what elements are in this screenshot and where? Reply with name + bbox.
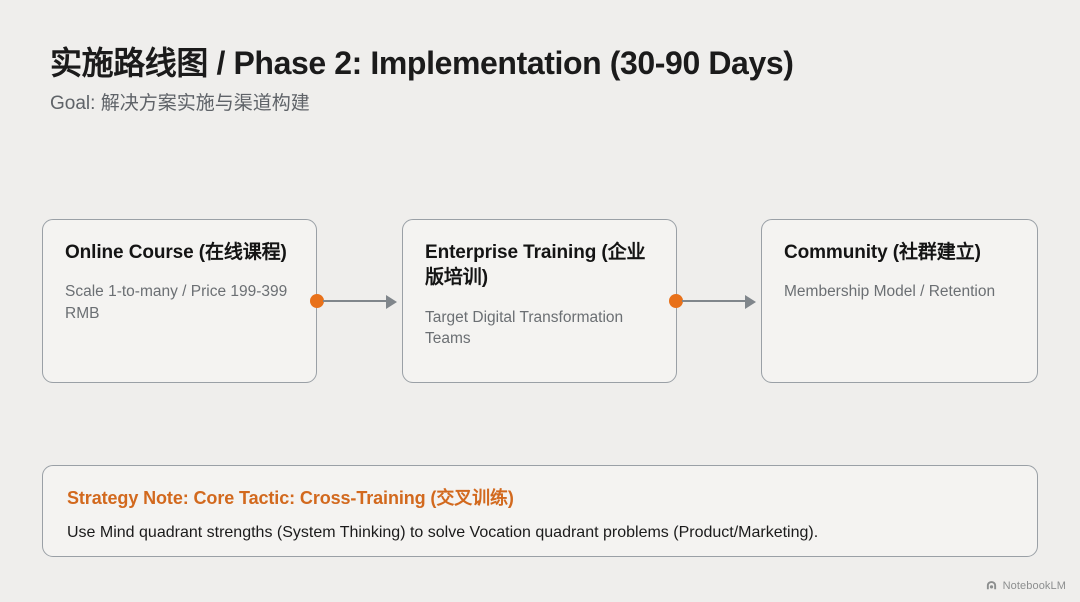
connector-line: [682, 300, 752, 302]
flow-card-title: Enterprise Training (企业版培训): [425, 240, 654, 291]
flow-card-description: Scale 1-to-many / Price 199-399 RMB: [65, 281, 294, 324]
slide-canvas: 实施路线图 / Phase 2: Implementation (30-90 D…: [0, 0, 1080, 602]
strategy-note-title: Strategy Note: Core Tactic: Cross-Traini…: [67, 488, 1013, 510]
flow-card-title: Community (社群建立): [784, 240, 1015, 265]
page-title: 实施路线图 / Phase 2: Implementation (30-90 D…: [50, 44, 1040, 82]
arrow-right-icon: [386, 295, 397, 309]
process-flow: Online Course (在线课程) Scale 1-to-many / P…: [42, 219, 1038, 383]
flow-connector-2: [669, 292, 761, 310]
connector-line: [323, 300, 393, 302]
flow-card-enterprise-training: Enterprise Training (企业版培训) Target Digit…: [402, 219, 677, 383]
strategy-note-body: Use Mind quadrant strengths (System Thin…: [67, 523, 1013, 544]
connector-dot-icon: [669, 294, 683, 308]
strategy-note: Strategy Note: Core Tactic: Cross-Traini…: [42, 465, 1038, 557]
page-subtitle: Goal: 解决方案实施与渠道构建: [50, 92, 1040, 117]
arrow-right-icon: [745, 295, 756, 309]
notebooklm-watermark: NotebookLM: [985, 579, 1066, 592]
flow-connector-1: [310, 292, 402, 310]
slide-header: 实施路线图 / Phase 2: Implementation (30-90 D…: [50, 44, 1040, 117]
notebooklm-logo-icon: [985, 579, 998, 592]
flow-card-online-course: Online Course (在线课程) Scale 1-to-many / P…: [42, 219, 317, 383]
flow-card-description: Target Digital Transformation Teams: [425, 307, 654, 350]
flow-card-description: Membership Model / Retention: [784, 281, 1015, 303]
flow-card-title: Online Course (在线课程): [65, 240, 294, 265]
connector-dot-icon: [310, 294, 324, 308]
flow-card-community: Community (社群建立) Membership Model / Rete…: [761, 219, 1038, 383]
notebooklm-label: NotebookLM: [1003, 580, 1066, 592]
